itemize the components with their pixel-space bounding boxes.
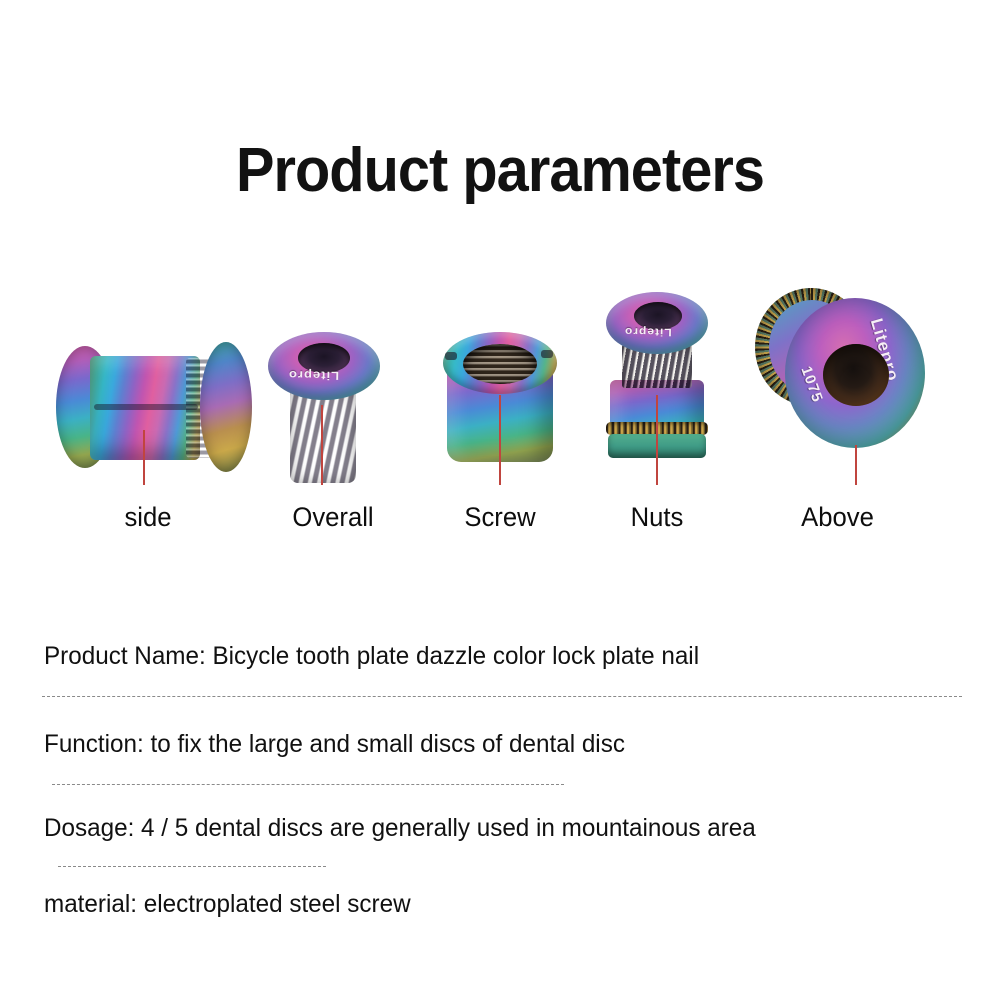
central-bore	[823, 344, 889, 406]
spec-row-material: material: electroplated steel screw	[0, 878, 1000, 938]
caption-overall: Overall	[262, 502, 405, 533]
spec-row-function: Function: to fix the large and small dis…	[0, 708, 1000, 796]
spec-divider-1	[42, 696, 962, 697]
internal-thread-bore	[463, 344, 537, 384]
bolt-head-nuts: Litepro	[606, 292, 708, 354]
bolt-head: Litepro	[268, 332, 380, 400]
hex-socket-nuts	[634, 302, 682, 330]
spec-row-product-name: Product Name: Bicycle tooth plate dazzle…	[0, 620, 1000, 708]
caption-nuts: Nuts	[595, 502, 719, 533]
spec-row-dosage: Dosage: 4 / 5 dental discs are generally…	[0, 796, 1000, 878]
spec-text-product-name: Product Name: Bicycle tooth plate dazzle…	[44, 642, 699, 671]
spec-text-dosage: Dosage: 4 / 5 dental discs are generally…	[44, 814, 756, 843]
product-image-gallery: side Litepro Overall Screw	[0, 270, 1000, 560]
product-view-side: side	[48, 270, 248, 560]
threaded-shank	[290, 388, 356, 483]
pointer-line-above	[855, 445, 857, 485]
caption-side: side	[53, 502, 243, 533]
specification-list: Product Name: Bicycle tooth plate dazzle…	[0, 620, 1000, 938]
rim-notch-right	[541, 350, 553, 358]
product-view-nuts: Litepro Nuts	[592, 270, 722, 560]
caption-screw: Screw	[438, 502, 562, 533]
engraving-part-number: 1075	[797, 364, 826, 405]
product-view-overall: Litepro Overall	[258, 270, 408, 560]
product-view-above: Litepro 1075 Above	[745, 270, 930, 560]
pointer-line-side	[143, 430, 145, 485]
pointer-line-screw	[499, 395, 501, 485]
hex-socket	[298, 343, 350, 373]
spec-text-material: material: electroplated steel screw	[44, 890, 411, 919]
right-flange	[200, 342, 252, 472]
spec-divider-3	[58, 866, 326, 867]
product-view-screw: Screw	[435, 270, 565, 560]
rim-notch-left	[445, 352, 457, 360]
caption-above: Above	[750, 502, 926, 533]
spec-text-function: Function: to fix the large and small dis…	[44, 730, 625, 759]
pointer-line-nuts	[656, 395, 658, 485]
spec-divider-2	[52, 784, 564, 785]
page-title: Product parameters	[35, 135, 965, 206]
pointer-line-overall	[321, 405, 323, 485]
seam-shadow	[94, 404, 198, 410]
